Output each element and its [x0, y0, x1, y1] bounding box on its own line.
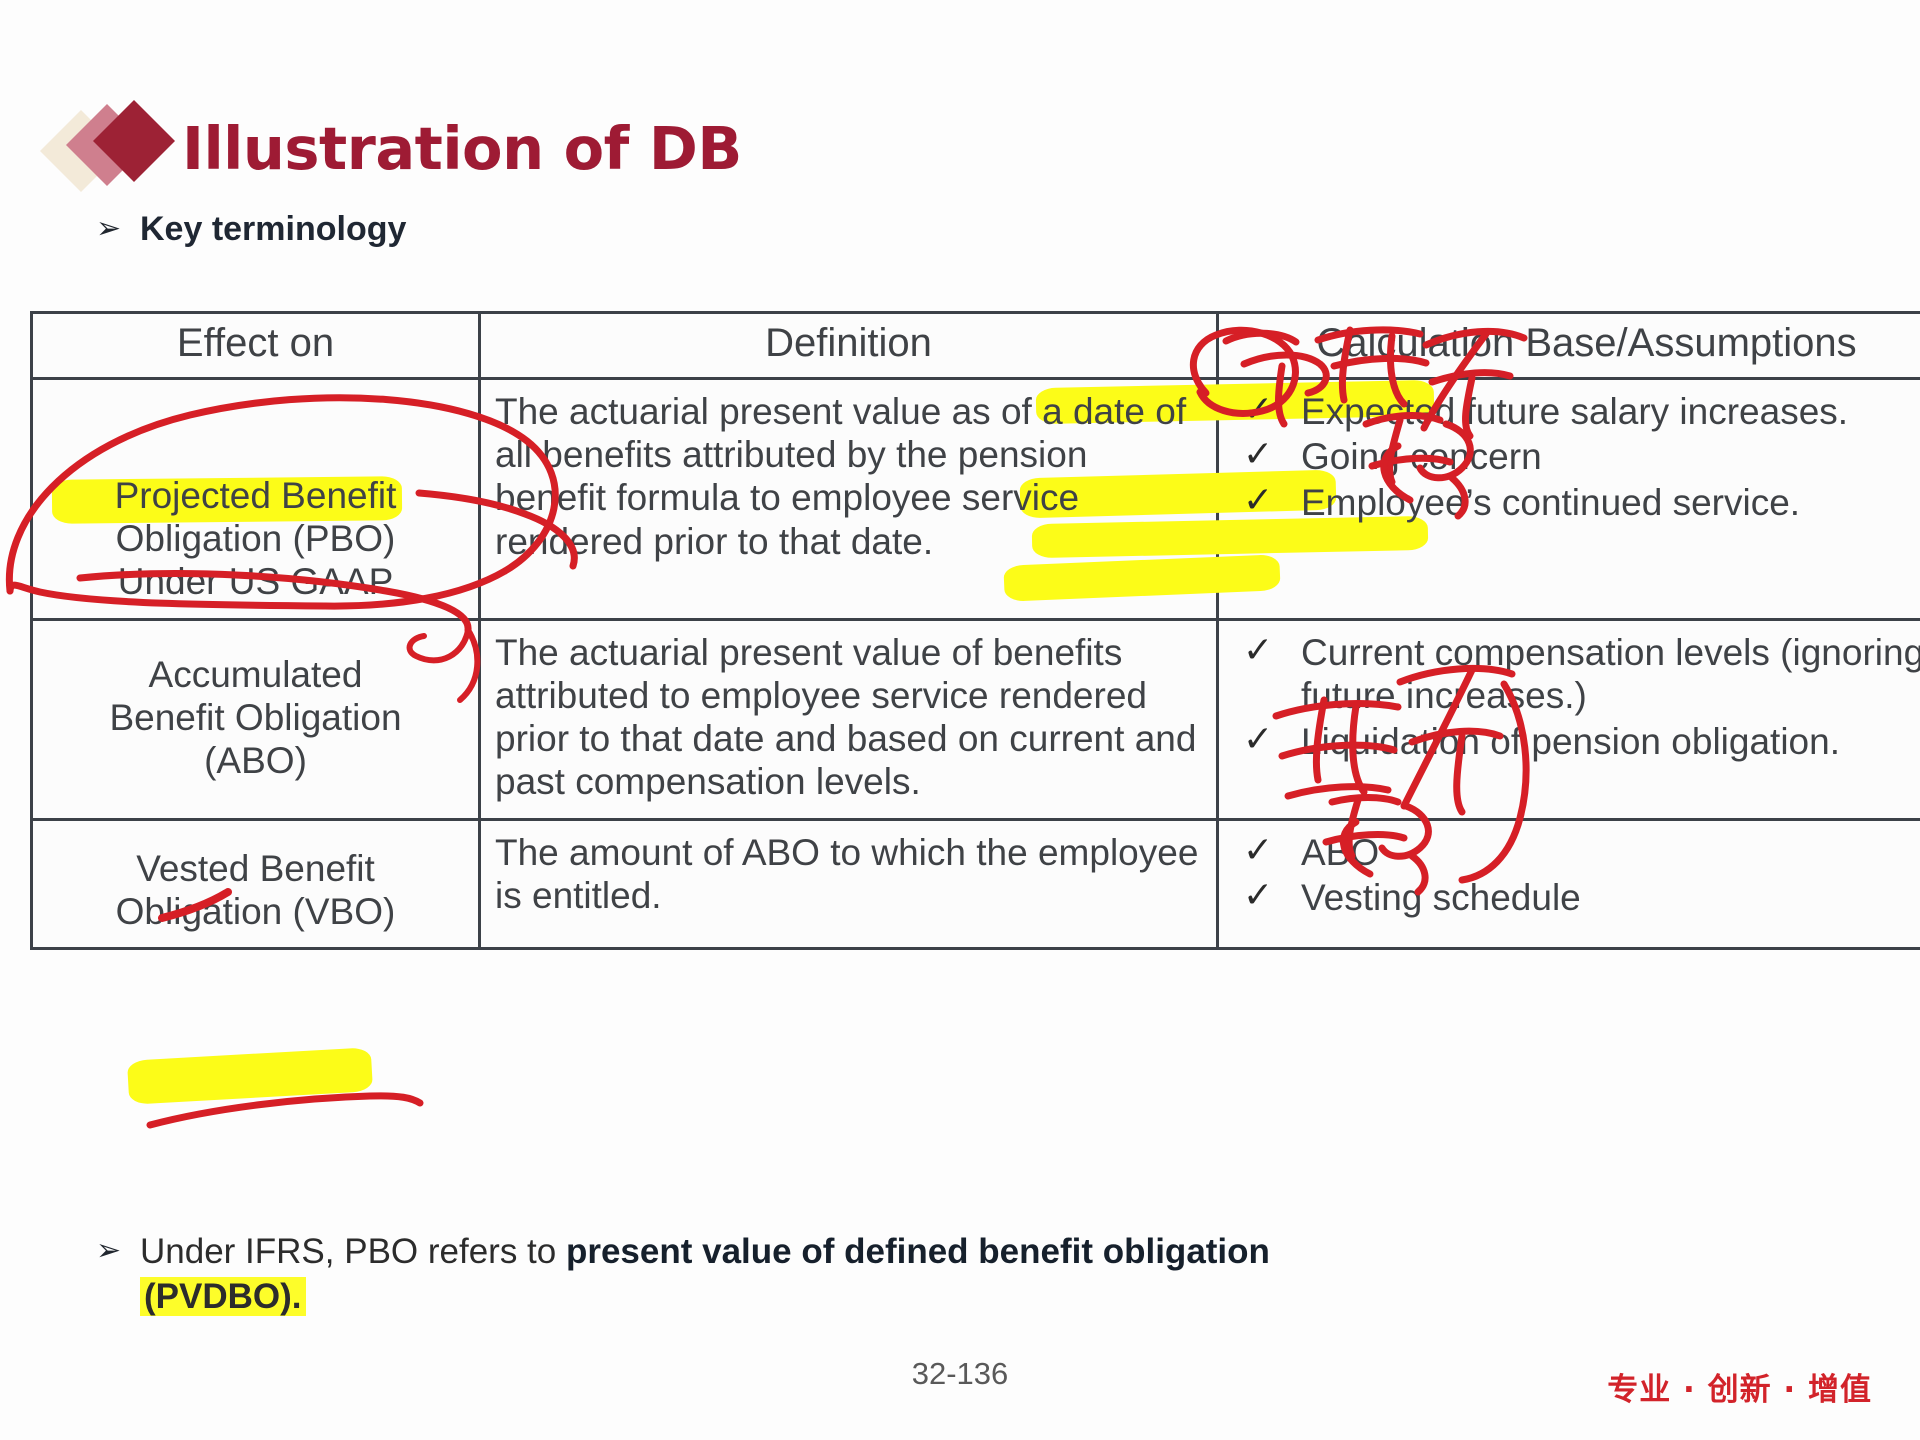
abo-line-2: Benefit Obligation [47, 696, 464, 739]
assumption-text: Liquidation of pension obligation. [1301, 721, 1840, 762]
list-item: ✓Expected future salary increases. [1233, 390, 1920, 434]
ifrs-note-bullet: ➢ Under IFRS, PBO refers to present valu… [96, 1230, 1856, 1320]
highlight-pvdbo [127, 1047, 373, 1105]
check-icon: ✓ [1243, 433, 1273, 475]
list-item: ✓Vesting schedule [1233, 876, 1920, 920]
assumption-text: Going concern [1301, 436, 1542, 477]
check-icon: ✓ [1243, 479, 1273, 521]
arrow-bullet-icon: ➢ [96, 1230, 140, 1266]
cell-assumptions-vbo: ✓ABO ✓Vesting schedule [1218, 819, 1920, 949]
cell-assumptions-abo: ✓Current compensation levels (ignoring f… [1218, 619, 1920, 819]
assumptions-list-pbo: ✓Expected future salary increases. ✓Goin… [1233, 390, 1920, 525]
ifrs-pvdbo: (PVDBO). [140, 1277, 306, 1316]
key-terminology-bullet: ➢ Key terminology [96, 208, 406, 252]
cell-definition-abo: The actuarial present value of benefits … [480, 619, 1218, 819]
cell-definition-vbo: The amount of ABO to which the employee … [480, 819, 1218, 949]
column-header-definition: Definition [480, 313, 1218, 379]
arrow-bullet-icon: ➢ [96, 208, 140, 244]
list-item: ✓Liquidation of pension obligation. [1233, 720, 1920, 764]
cell-assumptions-pbo: ✓Expected future salary increases. ✓Goin… [1218, 378, 1920, 619]
slide-title-row: Illustration of DB [52, 100, 742, 196]
key-terminology-table: Effect on Definition Calculation Base/As… [30, 311, 1920, 950]
assumption-text: Current compensation levels (ignoring fu… [1301, 632, 1920, 717]
table-header-row: Effect on Definition Calculation Base/As… [32, 313, 1920, 379]
cell-definition-pbo: The actuarial present value as of a date… [480, 378, 1218, 619]
ifrs-prefix: Under IFRS, PBO refers to [140, 1232, 566, 1271]
cell-effect-on-pbo: Projected Benefit Obligation (PBO) Under… [32, 378, 480, 619]
key-terminology-label: Key terminology [140, 208, 406, 252]
cell-effect-on-abo: Accumulated Benefit Obligation (ABO) [32, 619, 480, 819]
assumption-text: Employee’s continued service. [1301, 482, 1800, 523]
assumption-text: Expected future salary increases. [1301, 391, 1848, 432]
check-icon: ✓ [1243, 629, 1273, 671]
abo-line-1: Accumulated [47, 653, 464, 696]
brand-tagline: 专业 · 创新 · 增值 [1607, 1364, 1872, 1409]
column-header-calculation-base: Calculation Base/Assumptions [1218, 313, 1920, 379]
definition-pbo-text: The actuarial present value as of a date… [495, 390, 1202, 563]
abo-line-3: (ABO) [47, 739, 464, 782]
vbo-line-2: Obligation (VBO) [47, 890, 464, 933]
page-title: Illustration of DB [182, 119, 742, 178]
table-row: Accumulated Benefit Obligation (ABO) The… [32, 619, 1920, 819]
assumption-text: Vesting schedule [1301, 877, 1581, 918]
column-header-effect-on: Effect on [32, 313, 480, 379]
list-item: ✓ABO [1233, 831, 1920, 875]
vbo-line-1: Vested Benefit [47, 847, 464, 890]
pbo-line-1: Projected Benefit [47, 474, 464, 517]
table-row: Vested Benefit Obligation (VBO) The amou… [32, 819, 1920, 949]
red-underline-pvdbo [150, 1096, 420, 1125]
check-icon: ✓ [1243, 874, 1273, 916]
list-item: ✓Going concern [1233, 435, 1920, 479]
assumption-text: ABO [1301, 832, 1379, 873]
ifrs-note-text: Under IFRS, PBO refers to present value … [140, 1230, 1270, 1320]
pbo-line-3: Under US GAAP [47, 560, 464, 603]
check-icon: ✓ [1243, 829, 1273, 871]
check-icon: ✓ [1243, 718, 1273, 760]
definition-abo-text: The actuarial present value of benefits … [495, 631, 1202, 804]
check-icon: ✓ [1243, 388, 1273, 430]
cell-effect-on-vbo: Vested Benefit Obligation (VBO) [32, 819, 480, 949]
assumptions-list-vbo: ✓ABO ✓Vesting schedule [1233, 831, 1920, 920]
pbo-line-2: Obligation (PBO) [47, 517, 464, 560]
table-row: Projected Benefit Obligation (PBO) Under… [32, 378, 1920, 619]
three-diamonds-icon [52, 102, 172, 194]
list-item: ✓Employee’s continued service. [1233, 481, 1920, 525]
list-item: ✓Current compensation levels (ignoring f… [1233, 631, 1920, 718]
definition-vbo-text: The amount of ABO to which the employee … [495, 831, 1202, 918]
slide-canvas: Illustration of DB ➢ Key terminology Eff… [0, 0, 1920, 1440]
assumptions-list-abo: ✓Current compensation levels (ignoring f… [1233, 631, 1920, 764]
ifrs-bold-part: present value of defined benefit obligat… [566, 1232, 1270, 1271]
